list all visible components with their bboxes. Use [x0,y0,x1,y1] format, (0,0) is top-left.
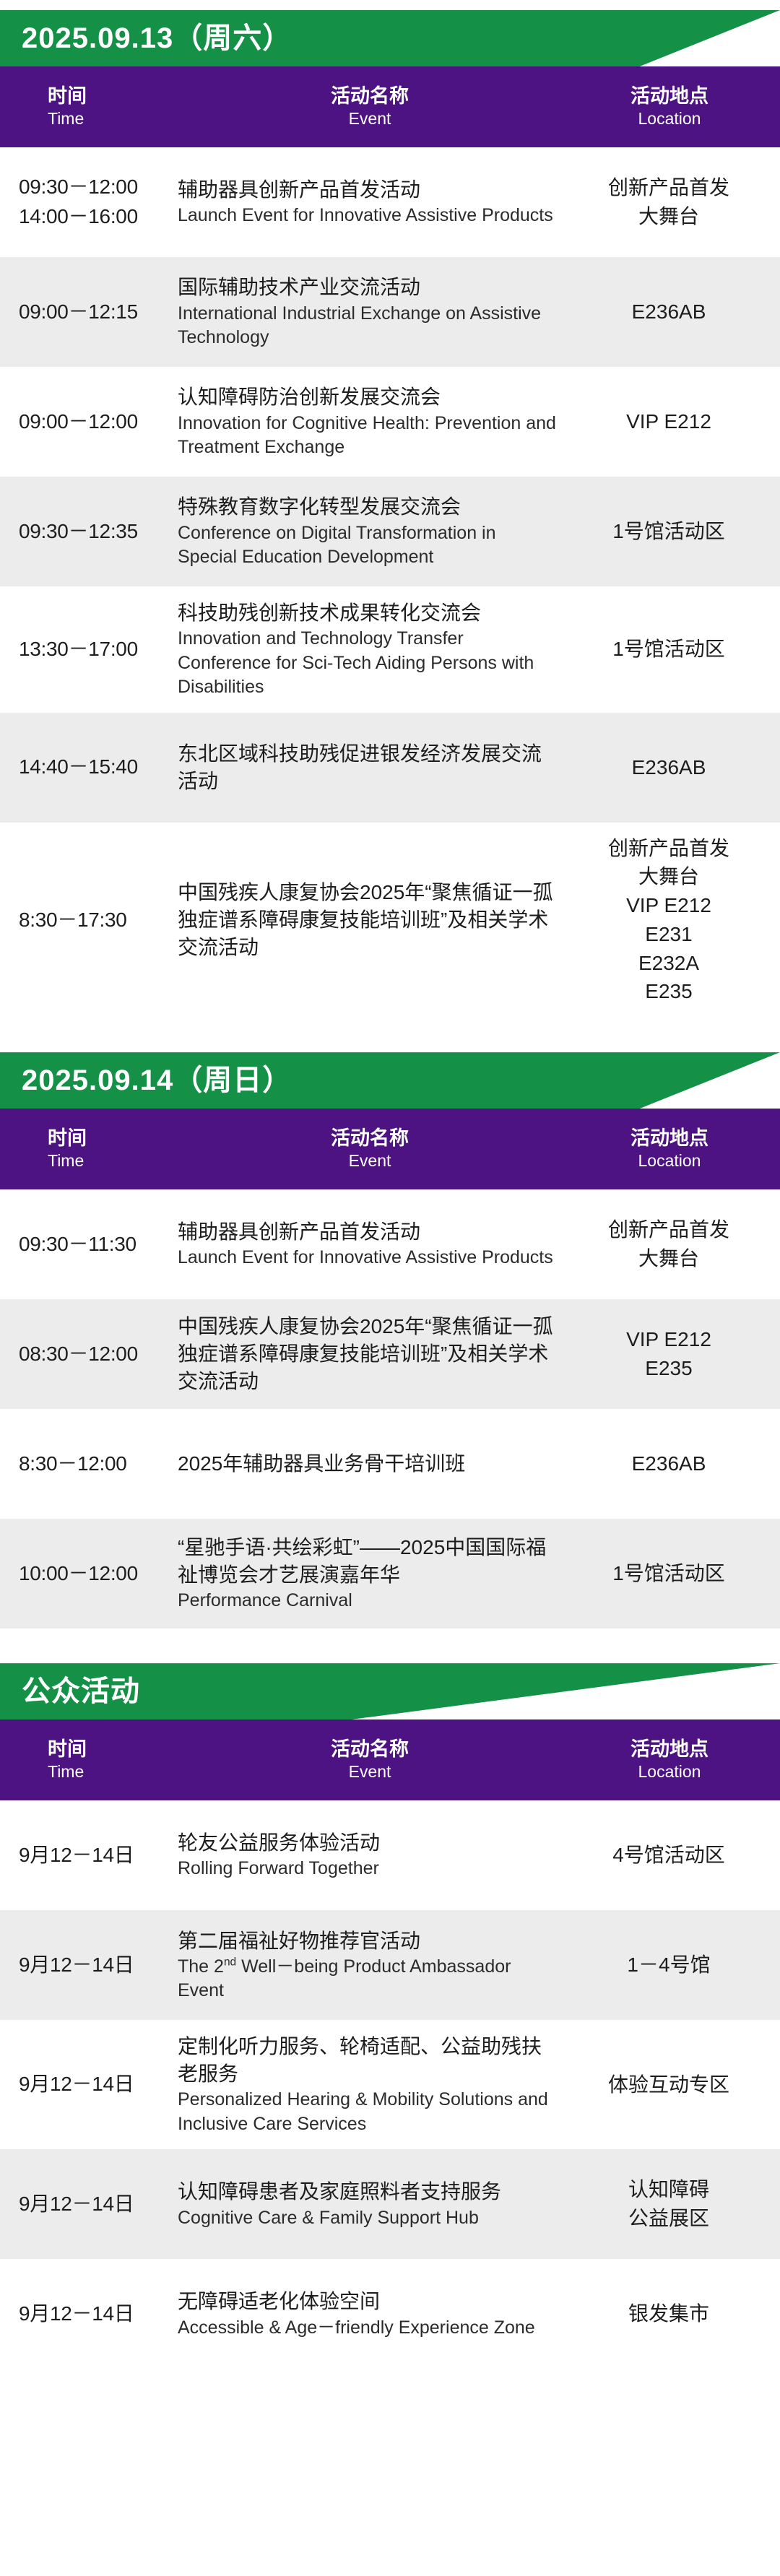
column-header-time-ch: 时间 [48,1738,168,1761]
cell-event: 科技助残创新技术成果转化交流会Innovation and Technology… [168,586,572,713]
cell-time: 09:30－12:00 14:00－16:00 [0,161,168,243]
event-name-ch: 定制化听力服务、轮椅适配、公益助残扶老服务 [178,2033,556,2088]
event-name-en: Conference on Digital Transformation in … [178,521,556,570]
cell-time: 09:30－12:35 [0,506,168,558]
cell-time: 09:00－12:00 [0,396,168,448]
column-header-location-en: Location [572,1150,767,1172]
column-header-location-ch: 活动地点 [572,84,767,108]
section-spacer [0,1629,780,1653]
event-name-ch: 认知障碍防治创新发展交流会 [178,383,556,411]
cell-location: 1号馆活动区 [572,506,780,558]
section-banner: 2025.09.14（周日） [0,1052,780,1109]
table-row: 13:30－17:00科技助残创新技术成果转化交流会Innovation and… [0,586,780,713]
cell-event: 认知障碍防治创新发展交流会Innovation for Cognitive He… [168,370,572,472]
event-name-en: Innovation and Technology Transfer Confe… [178,627,556,700]
column-header-time: 时间Time [0,1738,168,1783]
column-header-row: 时间Time活动名称Event活动地点Location [0,66,780,147]
cell-location: 创新产品首发 大舞台 [572,1204,780,1285]
column-header-event-ch: 活动名称 [168,84,572,108]
section-spacer [0,1018,780,1042]
table-row: 09:30－12:00 14:00－16:00辅助器具创新产品首发活动Launc… [0,147,780,257]
event-name-en: Cognitive Care & Family Support Hub [178,2206,556,2231]
event-name-ch: 中国残疾人康复协会2025年“聚焦循证一孤独症谱系障碍康复技能培训班”及相关学术… [178,1313,556,1395]
event-name-ch: 特殊教育数字化转型发展交流会 [178,493,556,521]
event-name-ch: 辅助器具创新产品首发活动 [178,1218,556,1246]
cell-time: 10:00－12:00 [0,1548,168,1600]
event-name-ch: 东北区域科技助残促进银发经济发展交流活动 [178,740,556,795]
cell-event: 轮友公益服务体验活动Rolling Forward Together [168,1816,572,1894]
column-header-location: 活动地点Location [572,84,780,130]
schedule-table: 09:30－11:30辅助器具创新产品首发活动Launch Event for … [0,1189,780,1629]
cell-time: 8:30－12:00 [0,1438,168,1491]
table-row: 08:30－12:00中国残疾人康复协会2025年“聚焦循证一孤独症谱系障碍康复… [0,1299,780,1409]
cell-event: “星驰手语·共绘彩虹”——2025中国国际福祉博览会才艺展演嘉年华Perform… [168,1521,572,1626]
cell-time: 9月12－14日 [0,1939,168,1992]
cell-location: 创新产品首发 大舞台 [572,162,780,243]
cell-time: 08:30－12:00 [0,1328,168,1381]
event-name-en: Launch Event for Innovative Assistive Pr… [178,204,556,228]
cell-event: 认知障碍患者及家庭照料者支持服务Cognitive Care & Family … [168,2165,572,2243]
event-name-en: Launch Event for Innovative Assistive Pr… [178,1246,556,1270]
section-title: 2025.09.13（周六） [0,10,780,66]
cell-event: 中国残疾人康复协会2025年“聚焦循证一孤独症谱系障碍康复技能培训班”及相关学术… [168,866,572,974]
cell-event: 辅助器具创新产品首发活动Launch Event for Innovative … [168,163,572,241]
cell-location: 创新产品首发 大舞台 VIP E212 E231 E232A E235 [572,823,780,1018]
cell-location: 银发集市 [572,2288,780,2340]
event-name-ch: 科技助残创新技术成果转化交流会 [178,599,556,627]
event-name-ch: 2025年辅助器具业务骨干培训班 [178,1450,556,1478]
column-header-time-ch: 时间 [48,1127,168,1150]
column-header-row: 时间Time活动名称Event活动地点Location [0,1719,780,1800]
column-header-location: 活动地点Location [572,1738,780,1783]
cell-location: VIP E212 E235 [572,1314,780,1395]
cell-location: VIP E212 [572,396,780,448]
cell-event: 第二届福祉好物推荐官活动The 2nd Well－being Product A… [168,1914,572,2016]
cell-time: 09:30－11:30 [0,1218,168,1271]
cell-event: 中国残疾人康复协会2025年“聚焦循证一孤独症谱系障碍康复技能培训班”及相关学术… [168,1300,572,1408]
event-name-ch: 无障碍适老化体验空间 [178,2288,556,2315]
table-row: 8:30－17:30中国残疾人康复协会2025年“聚焦循证一孤独症谱系障碍康复技… [0,823,780,1018]
table-row: 9月12－14日第二届福祉好物推荐官活动The 2nd Well－being P… [0,1910,780,2020]
event-name-ch: 认知障碍患者及家庭照料者支持服务 [178,2178,556,2206]
column-header-time-en: Time [48,1761,168,1783]
table-row: 09:00－12:15国际辅助技术产业交流活动International Ind… [0,257,780,367]
column-header-time: 时间Time [0,1127,168,1172]
cell-event: 东北区域科技助残促进银发经济发展交流活动 [168,727,572,808]
column-header-event-ch: 活动名称 [168,1127,572,1150]
column-header-row: 时间Time活动名称Event活动地点Location [0,1109,780,1189]
column-header-location-en: Location [572,108,767,130]
cell-time: 9月12－14日 [0,2058,168,2111]
section-title: 2025.09.14（周日） [0,1052,780,1109]
cell-time: 9月12－14日 [0,1829,168,1882]
schedule-table: 09:30－12:00 14:00－16:00辅助器具创新产品首发活动Launc… [0,147,780,1018]
event-name-en-pre: The 2 [178,1956,224,1977]
column-header-event-en: Event [168,1761,572,1783]
cell-location: E236AB [572,286,780,338]
column-header-event: 活动名称Event [168,1738,572,1783]
cell-time: 8:30－17:30 [0,894,168,947]
column-header-time-en: Time [48,108,168,130]
table-row: 9月12－14日轮友公益服务体验活动Rolling Forward Togeth… [0,1800,780,1910]
event-name-en-ordinal-suffix: nd [224,1956,236,1968]
column-header-event-en: Event [168,108,572,130]
table-row: 8:30－12:002025年辅助器具业务骨干培训班E236AB [0,1409,780,1519]
event-name-en: International Industrial Exchange on Ass… [178,302,556,350]
event-name-ch: 第二届福祉好物推荐官活动 [178,1927,556,1955]
cell-event: 定制化听力服务、轮椅适配、公益助残扶老服务Personalized Hearin… [168,2020,572,2149]
column-header-time-en: Time [48,1150,168,1172]
section-banner: 公众活动 [0,1663,780,1719]
schedule-table: 9月12－14日轮友公益服务体验活动Rolling Forward Togeth… [0,1800,780,2369]
cell-location: E236AB [572,742,780,794]
cell-event: 无障碍适老化体验空间Accessible & Age－friendly Expe… [168,2275,572,2353]
event-name-en: Personalized Hearing & Mobility Solution… [178,2088,556,2136]
cell-location: E236AB [572,1438,780,1490]
event-name-en: Accessible & Age－friendly Experience Zon… [178,2316,556,2341]
cell-location: 1号馆活动区 [572,623,780,675]
schedule-page: 2025.09.13（周六）时间Time活动名称Event活动地点Locatio… [0,10,780,2369]
column-header-location-en: Location [572,1761,767,1783]
event-name-en: Innovation for Cognitive Health: Prevent… [178,412,556,460]
table-row: 9月12－14日无障碍适老化体验空间Accessible & Age－frien… [0,2259,780,2369]
cell-event: 国际辅助技术产业交流活动International Industrial Exc… [168,261,572,363]
event-name-en: The 2nd Well－being Product Ambassador Ev… [178,1955,556,2003]
cell-time: 13:30－17:00 [0,623,168,676]
cell-location: 认知障碍 公益展区 [572,2164,780,2245]
cell-time: 9月12－14日 [0,2288,168,2341]
table-row: 09:00－12:00认知障碍防治创新发展交流会Innovation for C… [0,367,780,477]
table-row: 09:30－11:30辅助器具创新产品首发活动Launch Event for … [0,1189,780,1299]
table-row: 9月12－14日定制化听力服务、轮椅适配、公益助残扶老服务Personalize… [0,2020,780,2149]
column-header-event-en: Event [168,1150,572,1172]
cell-location: 1号馆活动区 [572,1548,780,1600]
cell-location: 4号馆活动区 [572,1829,780,1881]
column-header-time: 时间Time [0,84,168,130]
column-header-time-ch: 时间 [48,84,168,108]
event-name-ch: 辅助器具创新产品首发活动 [178,176,556,204]
cell-event: 2025年辅助器具业务骨干培训班 [168,1437,572,1491]
cell-time: 14:40－15:40 [0,741,168,794]
column-header-event: 活动名称Event [168,1127,572,1172]
cell-event: 辅助器具创新产品首发活动Launch Event for Innovative … [168,1205,572,1283]
table-row: 10:00－12:00“星驰手语·共绘彩虹”——2025中国国际福祉博览会才艺展… [0,1519,780,1629]
table-row: 9月12－14日认知障碍患者及家庭照料者支持服务Cognitive Care &… [0,2149,780,2259]
event-name-ch: “星驰手语·共绘彩虹”——2025中国国际福祉博览会才艺展演嘉年华 [178,1534,556,1589]
cell-location: 体验互动专区 [572,2059,780,2111]
event-name-en: Rolling Forward Together [178,1857,556,1881]
section-banner: 2025.09.13（周六） [0,10,780,66]
table-row: 14:40－15:40东北区域科技助残促进银发经济发展交流活动E236AB [0,713,780,823]
table-row: 09:30－12:35特殊教育数字化转型发展交流会Conference on D… [0,477,780,586]
column-header-event-ch: 活动名称 [168,1738,572,1761]
event-name-ch: 国际辅助技术产业交流活动 [178,274,556,301]
event-name-en: Performance Carnival [178,1589,556,1613]
column-header-event: 活动名称Event [168,84,572,130]
cell-location: 1－4号馆 [572,1939,780,1991]
column-header-location-ch: 活动地点 [572,1738,767,1761]
column-header-location-ch: 活动地点 [572,1127,767,1150]
cell-time: 9月12－14日 [0,2178,168,2231]
column-header-location: 活动地点Location [572,1127,780,1172]
cell-time: 09:00－12:15 [0,286,168,339]
event-name-ch: 轮友公益服务体验活动 [178,1829,556,1857]
cell-event: 特殊教育数字化转型发展交流会Conference on Digital Tran… [168,480,572,582]
section-title: 公众活动 [0,1663,780,1719]
event-name-ch: 中国残疾人康复协会2025年“聚焦循证一孤独症谱系障碍康复技能培训班”及相关学术… [178,879,556,961]
